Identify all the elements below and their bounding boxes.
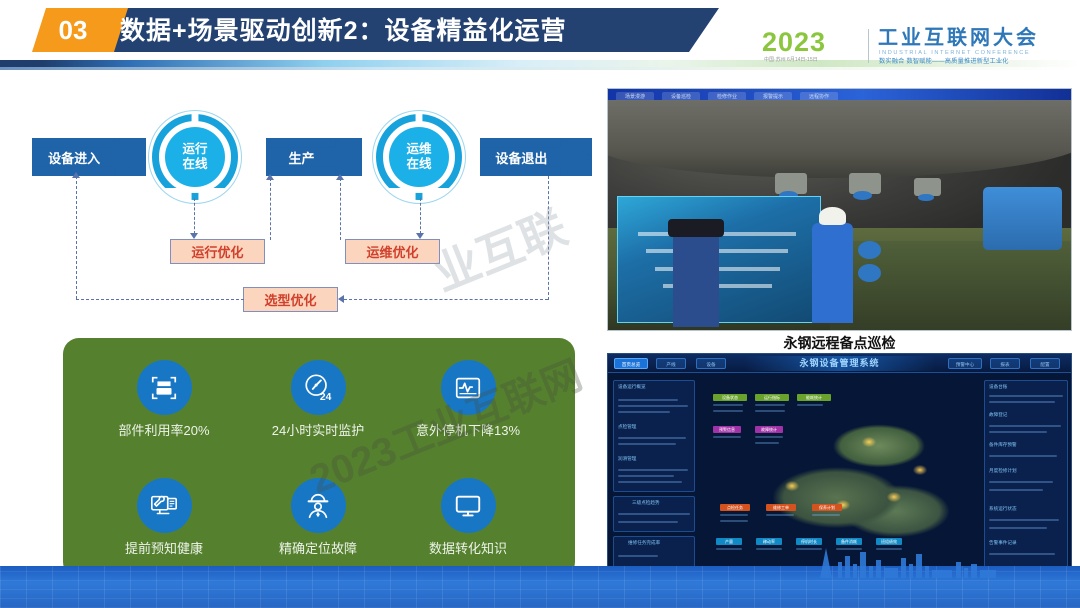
dashboard-left-card-0-title: 设备运行概览: [618, 383, 646, 390]
vr-machine-rotor: [853, 191, 872, 200]
conference-logo: 2023 中国·苏州 6月14日-15日 工业互联网大会 INDUSTRIAL …: [762, 28, 1072, 66]
card-row: [989, 481, 1053, 483]
dashboard-right-card-1-title: 故障登记: [989, 411, 1007, 418]
dashboard-left-card-3[interactable]: 三级点检趋势: [613, 496, 695, 532]
feedback-loop-left-leg: [76, 176, 77, 299]
optimization-box-run-label: 运行优化: [191, 242, 243, 261]
connector-opt-to-production: [270, 178, 271, 240]
vr-caption: 永钢远程备点巡检: [607, 333, 1072, 353]
dashboard-tab-2[interactable]: 设备: [696, 358, 726, 369]
map-hotspot[interactable]: [862, 437, 876, 447]
chip-row: [766, 514, 794, 516]
dashboard-left-card-2-title: 润滑管理: [618, 455, 636, 462]
card-row: [989, 527, 1047, 529]
chip-row: [797, 404, 823, 406]
dashboard-right-card-2-title: 备件库存预警: [989, 441, 1017, 448]
node-core: 运维 在线: [389, 127, 449, 187]
page-title: 数据+场景驱动创新2：设备精益化运营: [120, 12, 720, 50]
connector-arrowhead: [338, 295, 344, 303]
card-row: [618, 475, 674, 477]
vr-worker-avatar: [812, 223, 854, 323]
connector-arrowhead: [266, 174, 274, 180]
dashboard-tab-1[interactable]: 产线: [656, 358, 686, 369]
dashboard-chip-green-0[interactable]: 设备状态: [713, 394, 747, 401]
dashboard-left-card-1-title: 点检管理: [618, 423, 636, 430]
dashboard-chip-purple-1[interactable]: 故障统计: [755, 426, 783, 433]
flow-arrow-entry-label: 设备进入: [32, 138, 116, 176]
benefit-item-1: 24 24小时实时监护: [243, 360, 393, 439]
clock-24-icon: 24: [291, 360, 346, 415]
feedback-loop-right-leg: [548, 176, 549, 300]
map-hotspot[interactable]: [785, 481, 799, 491]
dashboard-tab-4[interactable]: 报表: [990, 358, 1020, 369]
dashboard-left-card-0[interactable]: 设备运行概览 点检管理 润滑管理: [613, 380, 695, 492]
dashboard-chip-green-2[interactable]: 能耗统计: [797, 394, 831, 401]
card-row: [618, 481, 682, 483]
header-gradient-rule-secondary: [0, 67, 1080, 70]
chip-row: [720, 514, 748, 516]
logo-year-sub: 中国·苏州 6月14日-15日: [764, 56, 868, 65]
svg-text:24: 24: [320, 392, 332, 403]
benefit-item-0: 部件利用率20%: [89, 360, 239, 439]
card-row: [618, 399, 678, 401]
equipment-management-dashboard: 首页总览 产线 设备 预警中心 报表 配置 永钢设备管理系统 设备运行概览 点检…: [607, 353, 1072, 575]
node-label-line2: 在线: [406, 157, 431, 172]
vr-projection-screen: [617, 196, 821, 323]
flow-node-maintenance-online: 运维 在线: [376, 114, 462, 200]
node-core: 运行 在线: [165, 127, 225, 187]
flow-arrow-production-label: 生产: [266, 138, 337, 176]
dashboard-right-card-0-title: 设备台账: [989, 383, 1007, 390]
dashboard-tab-5[interactable]: 配置: [1030, 358, 1060, 369]
slide-header: 03 数据+场景驱动创新2：设备精益化运营 2023 中国·苏州 6月14日-1…: [0, 0, 1080, 72]
vr-worker-helmet: [819, 207, 847, 225]
optimization-box-selection: 选型优化: [243, 287, 338, 312]
node-label-line1: 运维: [406, 142, 431, 157]
card-row: [989, 401, 1055, 403]
display-icon: [441, 478, 496, 533]
card-row: [989, 395, 1063, 397]
card-row: [618, 411, 670, 413]
dashboard-title: 永钢设备管理系统: [745, 356, 935, 371]
benefits-panel: 部件利用率20% 24 24小时实时监护 意外停机下降13%: [63, 338, 575, 578]
chip-row: [755, 404, 785, 406]
chip-row: [755, 410, 785, 412]
map-hotspot[interactable]: [887, 492, 901, 502]
dashboard-tab-3[interactable]: 预警中心: [948, 358, 982, 369]
vr-info-kiosk: [983, 187, 1062, 251]
flow-arrow-exit: 设备退出: [480, 138, 592, 176]
card-row: [618, 443, 676, 445]
card-row: [989, 519, 1059, 521]
chip-row: [713, 410, 743, 412]
optimization-box-selection-label: 选型优化: [264, 290, 316, 309]
connector-arrowhead: [336, 174, 344, 180]
map-hotspot[interactable]: [913, 465, 927, 475]
scan-document-icon: [137, 360, 192, 415]
chip-row: [755, 442, 779, 444]
benefit-item-0-label: 部件利用率20%: [89, 423, 239, 439]
dashboard-chip-orange-1[interactable]: 维修工单: [766, 504, 796, 511]
flow-arrow-exit-label: 设备退出: [480, 138, 563, 176]
dashboard-right-card-3-title: 月度检修计划: [989, 467, 1017, 474]
monitor-wrench-icon: [137, 478, 192, 533]
vr-equipment-prop: [858, 264, 881, 282]
benefit-item-1-label: 24小时实时监护: [243, 423, 393, 439]
dashboard-top-bar: 首页总览 产线 设备 预警中心 报表 配置 永钢设备管理系统: [608, 354, 1071, 373]
logo-name-en: INDUSTRIAL INTERNET CONFERENCE: [879, 49, 1075, 57]
card-row: [989, 489, 1043, 491]
dashboard-chip-orange-2[interactable]: 保养计划: [812, 504, 842, 511]
vr-headset: [668, 219, 724, 237]
chip-row: [755, 436, 783, 438]
vr-ceiling: [607, 100, 1072, 177]
vr-machine-rotor: [918, 194, 934, 202]
connector-maint-to-opt: [420, 198, 421, 234]
logo-name-cn: 工业互联网大会: [878, 27, 1073, 50]
connector-run-to-opt: [194, 198, 195, 234]
chip-row: [720, 520, 748, 522]
dashboard-left-card-3-title: 三级点检趋势: [632, 499, 660, 506]
equipment-lifecycle-flow-diagram: 设备进入 运行 在线 生产 运维 在线 设备退出 运行优化: [18, 92, 598, 327]
card-row: [618, 469, 688, 471]
flow-node-running-online: 运行 在线: [152, 114, 238, 200]
node-label-line1: 运行: [182, 142, 207, 157]
feedback-loop-bottom-left: [76, 299, 244, 300]
benefit-item-2: 意外停机下降13%: [393, 360, 543, 439]
flow-arrow-entry: 设备进入: [32, 138, 146, 176]
logo-slogan: 数实融合 数智赋能——高质量推进新型工业化: [879, 57, 1075, 66]
vr-scene-3d: [608, 105, 1071, 331]
card-row: [989, 431, 1047, 433]
dashboard-right-card-4-title: 系统运行状态: [989, 505, 1017, 512]
chip-row: [812, 514, 840, 516]
skyline-decoration: [0, 544, 1080, 578]
monitor-waveform-icon: [441, 360, 496, 415]
dashboard-right-card-group[interactable]: 设备台账 故障登记 备件库存预警 月度检修计划 系统运行状态 告警事件记录: [984, 380, 1068, 568]
dashboard-chip-purple-0[interactable]: 预警信息: [713, 426, 741, 433]
logo-divider: [868, 29, 869, 63]
optimization-box-run: 运行优化: [170, 239, 265, 264]
vr-user-seated: [673, 225, 719, 327]
card-row: [618, 405, 688, 407]
chip-row: [713, 404, 743, 406]
dashboard-chip-orange-0[interactable]: 点检任务: [720, 504, 750, 511]
connector-opt2-up: [340, 178, 341, 240]
benefit-item-2-label: 意外停机下降13%: [393, 423, 543, 439]
dashboard-chip-green-1[interactable]: 运行指标: [755, 394, 789, 401]
card-row: [989, 455, 1057, 457]
connector-arrowhead: [72, 172, 80, 178]
section-number-label: 03: [32, 8, 114, 52]
node-label-line2: 在线: [182, 157, 207, 172]
optimization-box-maintenance: 运维优化: [345, 239, 440, 264]
card-row: [618, 513, 690, 515]
vr-inspection-screenshot: 场景漫游 设备巡检 检修作业 报警提示 远程协作: [607, 88, 1072, 331]
worker-helmet-icon: [291, 478, 346, 533]
logo-year: 2023: [762, 28, 862, 56]
card-row: [618, 437, 686, 439]
card-row: [618, 521, 678, 523]
optimization-box-maintenance-label: 运维优化: [366, 242, 418, 261]
feedback-loop-bottom-right: [344, 299, 548, 300]
flow-arrow-production: 生产: [266, 138, 362, 176]
dashboard-tab-0[interactable]: 首页总览: [614, 358, 648, 369]
card-row: [989, 425, 1061, 427]
chip-row: [713, 436, 741, 438]
